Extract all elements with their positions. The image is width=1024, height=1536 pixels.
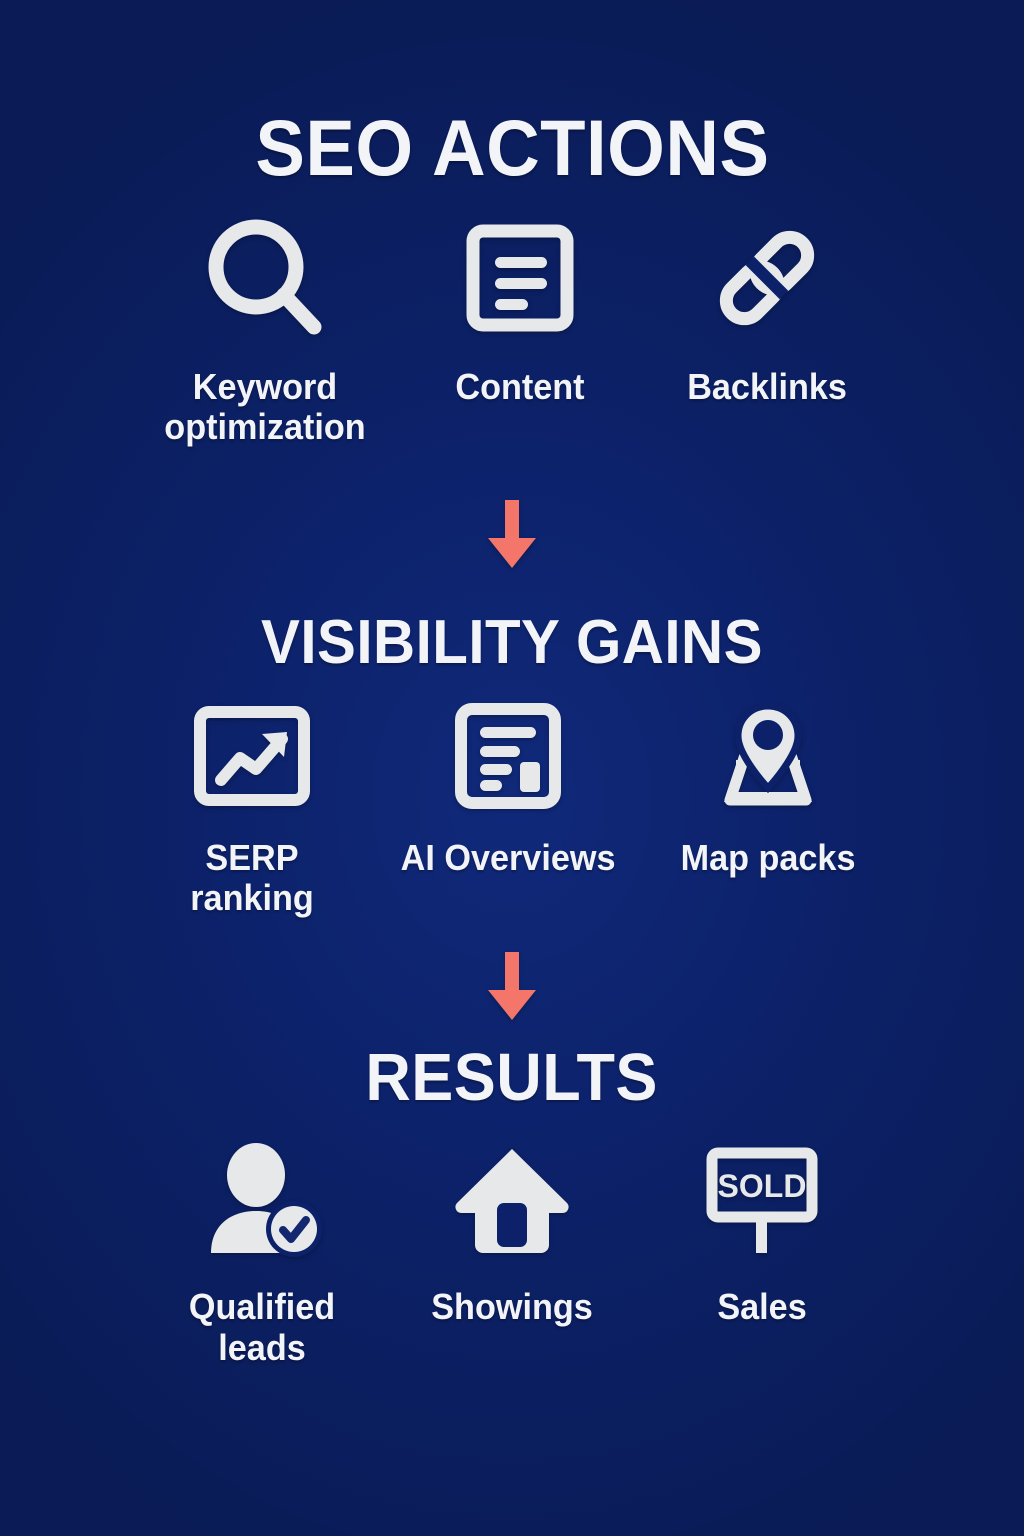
- sold-sign-text: SOLD: [718, 1168, 807, 1204]
- section-heading-results: RESULTS: [366, 1044, 659, 1111]
- item-content: Content: [397, 213, 642, 407]
- item-label: Showings: [431, 1287, 593, 1327]
- item-showings: Showings: [387, 1139, 637, 1327]
- sold-sign-icon: SOLD: [704, 1139, 820, 1263]
- row-results: Qualified leads Showings SOLD Sales: [0, 1139, 1024, 1368]
- item-label: Qualified leads: [189, 1287, 335, 1368]
- item-ai-overviews: AI Overviews: [377, 696, 639, 878]
- item-serp-ranking: SERP ranking: [127, 696, 377, 919]
- map-pin-icon: [706, 696, 830, 816]
- item-map-packs: Map packs: [639, 696, 897, 878]
- item-backlinks: Backlinks: [642, 213, 892, 407]
- row-visibility-gains: SERP ranking AI Overviews: [0, 696, 1024, 919]
- down-arrow-icon: [484, 500, 540, 572]
- item-sales: SOLD Sales: [637, 1139, 887, 1327]
- item-label: Sales: [717, 1287, 806, 1327]
- row-seo-actions: Keyword optimization Content: [0, 213, 1024, 448]
- item-label: SERP ranking: [190, 838, 314, 919]
- item-label: Map packs: [681, 838, 856, 878]
- seo-funnel-infographic: SEO ACTIONS Keyword optimization Cont: [0, 0, 1024, 1536]
- item-label: Keyword optimization: [164, 367, 365, 448]
- item-qualified-leads: Qualified leads: [137, 1139, 387, 1368]
- item-label: Backlinks: [687, 367, 847, 407]
- section-heading-visibility-gains: VISIBILITY GAINS: [261, 612, 763, 674]
- document-lines-icon: [466, 213, 574, 343]
- item-label: AI Overviews: [401, 838, 616, 878]
- item-keyword-optimization: Keyword optimization: [132, 213, 397, 448]
- chain-link-icon: [709, 213, 825, 343]
- down-arrow-icon: [484, 952, 540, 1024]
- person-check-icon: [201, 1139, 323, 1263]
- section-heading-seo-actions: SEO ACTIONS: [255, 108, 769, 187]
- overview-panel-icon: [454, 696, 562, 816]
- trending-up-chart-icon: [194, 696, 310, 816]
- magnifying-glass-icon: [204, 213, 326, 343]
- item-label: Content: [455, 367, 584, 407]
- house-icon: [453, 1139, 571, 1263]
